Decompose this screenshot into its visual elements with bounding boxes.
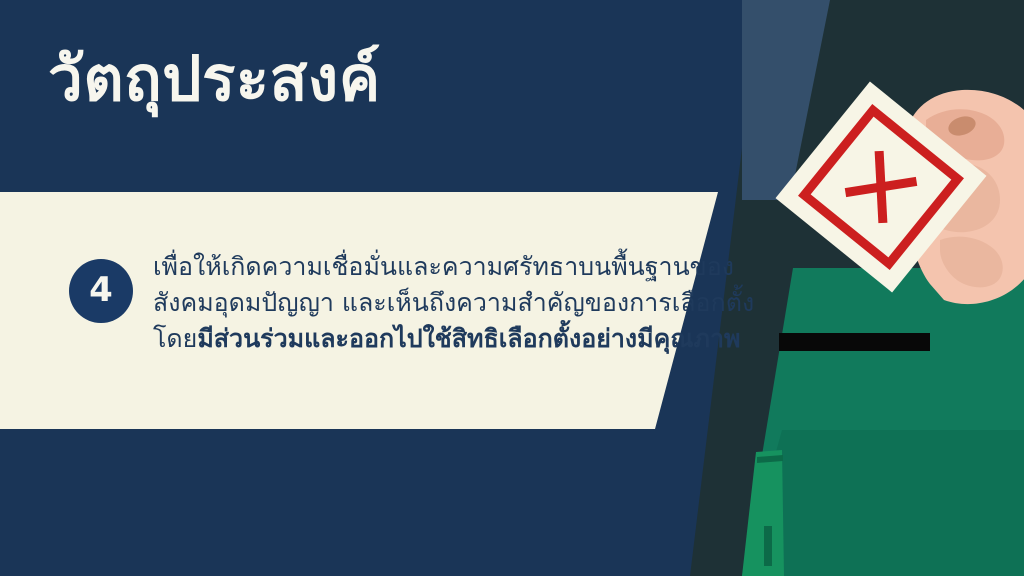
x-mark-icon	[811, 117, 952, 258]
body-line-3-emphasis: มีส่วนร่วมและออกไปใช้สิทธิเลือกตั้งอย่าง…	[197, 324, 740, 353]
bullet-number-badge: 4	[69, 259, 133, 323]
bullet-number-label: 4	[89, 273, 113, 307]
body-line-1: เพื่อให้เกิดความเชื่อมั่นและความศรัทธาบน…	[153, 249, 773, 285]
page-title: วัตถุประสงค์	[48, 42, 381, 115]
presentation-slide: วัตถุประสงค์ 4 เพื่อให้เกิดความเชื่อมั่น…	[0, 0, 1024, 576]
body-line-3: โดยมีส่วนร่วมและออกไปใช้สิทธิเลือกตั้งอย…	[153, 321, 773, 357]
body-line-3-prefix: โดย	[153, 324, 197, 353]
body-text: เพื่อให้เกิดความเชื่อมั่นและความศรัทธาบน…	[153, 249, 773, 357]
body-line-2: สังคมอุดมปัญญา และเห็นถึงความสำคัญของการ…	[153, 285, 773, 321]
